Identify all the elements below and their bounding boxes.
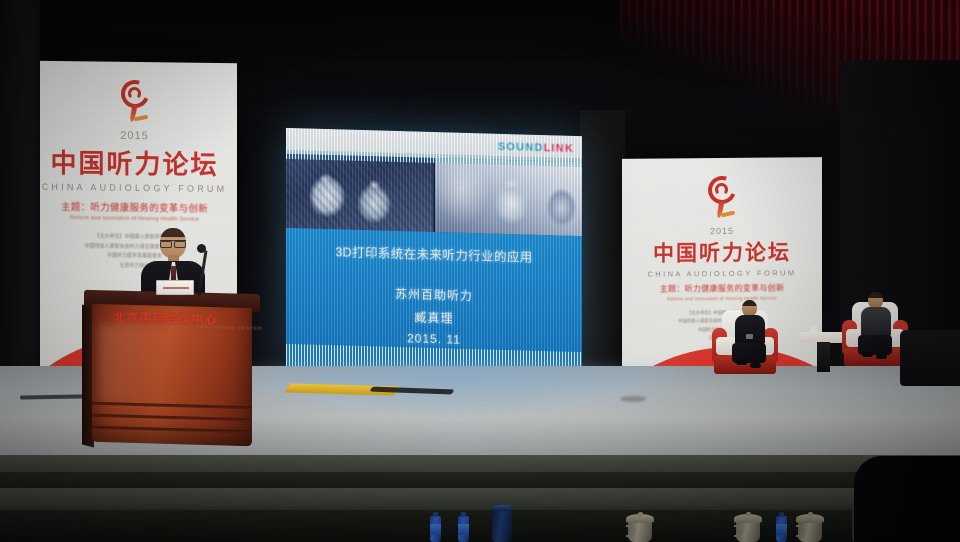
floor-mark — [620, 396, 646, 402]
presentation-screen: SOUNDLINK 3D打印系统在未来听力行业的应用 苏州百助听力 臧真理 20… — [286, 128, 582, 374]
seated-man-with-phone — [726, 300, 774, 380]
slide-subtitle-block: 苏州百助听力 臧真理 2015. 11 — [395, 285, 473, 347]
banner-theme-cn: 主题：听力健康服务的变革与创新 — [660, 282, 785, 294]
banner-title-cn: 中国听力论坛 — [653, 236, 791, 267]
soundlink-logo-sound: SOUND — [498, 141, 544, 154]
photo-children-outdoors — [286, 154, 433, 232]
table-cup — [810, 326, 818, 333]
lectern-podium: 北京国际会议中心 BEIJING INTERNATIONAL CONVENTIO… — [88, 292, 256, 452]
photo-child-portrait — [435, 158, 582, 236]
slide-photo-row — [286, 154, 582, 236]
backdrop-gap — [580, 110, 625, 400]
white-side-table — [800, 332, 848, 376]
banner-theme-en: Reform and Innovation of Hearing Health … — [70, 216, 199, 224]
speaker-glasses — [160, 240, 186, 246]
slide-text-area: 3D打印系统在未来听力行业的应用 苏州百助听力 臧真理 2015. 11 — [286, 228, 582, 374]
ear-spiral-logo-icon — [705, 176, 739, 222]
slide-title: 3D打印系统在未来听力行业的应用 — [335, 241, 532, 266]
conference-stage-photo: 2015 中国听力论坛 CHINA AUDIOLOGY FORUM 主题：听力健… — [0, 0, 960, 542]
seated-man — [854, 292, 902, 372]
banner-theme-cn: 主题：听力健康服务的变革与创新 — [61, 200, 208, 216]
speaker-name-card — [156, 280, 194, 295]
banner-title-cn: 中国听力论坛 — [50, 143, 218, 182]
soundlink-logo-link: LINK — [544, 142, 574, 155]
slide-date: 2015. 11 — [395, 331, 473, 347]
banner-title-en: CHINA AUDIOLOGY FORUM — [42, 182, 228, 194]
banner-year: 2015 — [120, 130, 148, 142]
banner-title-en: CHINA AUDIOLOGY FORUM — [647, 268, 796, 278]
podium-highlight — [98, 324, 234, 406]
foreground-dark-object — [854, 456, 960, 542]
dark-seating-block — [900, 330, 960, 386]
slide-presenter: 臧真理 — [395, 308, 473, 327]
ear-spiral-logo-icon — [118, 80, 152, 126]
slide-organization: 苏州百助听力 — [395, 285, 473, 304]
soundlink-logo: SOUNDLINK — [498, 141, 574, 155]
banner-year: 2015 — [710, 226, 734, 236]
